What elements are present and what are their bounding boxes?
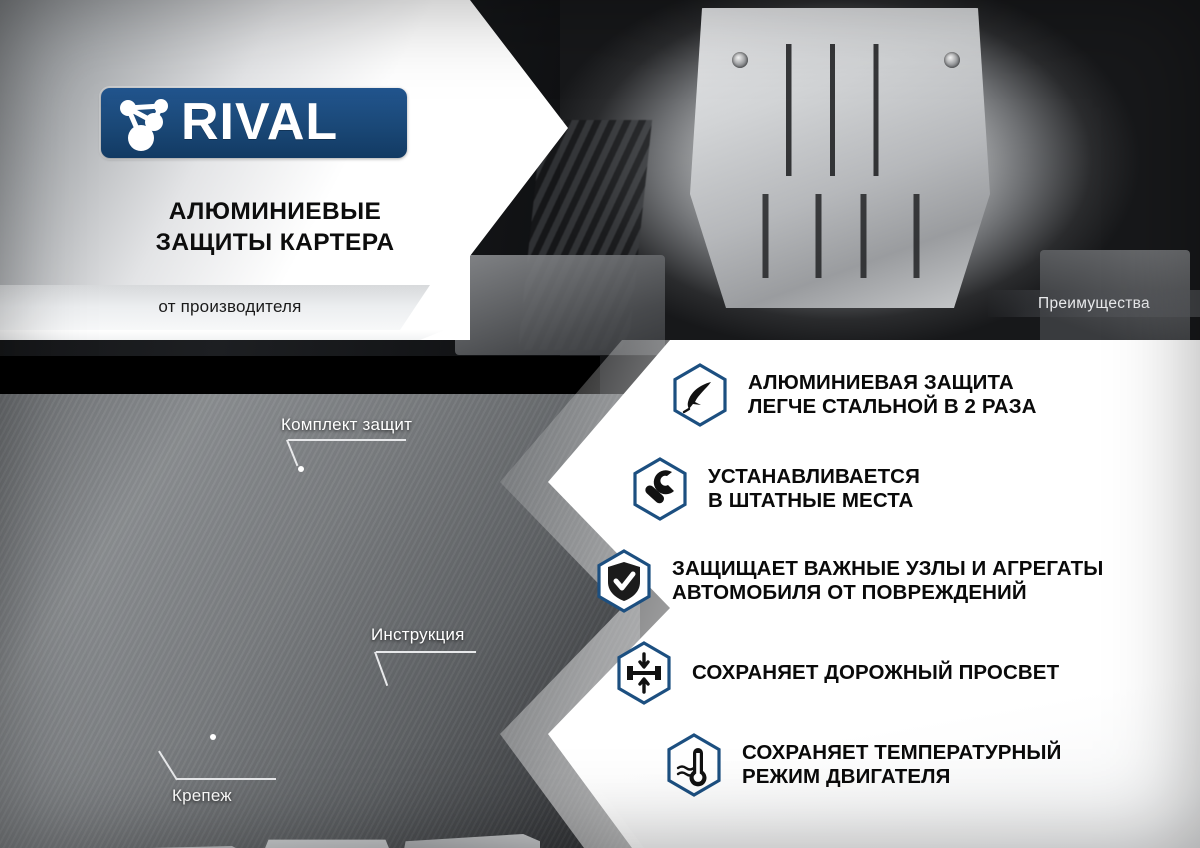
leader-line-fasteners-diag <box>158 751 177 781</box>
feature-item-protection: ЗАЩИЩАЕТ ВАЖНЫЕ УЗЛЫ И АГРЕГАТЫ АВТОМОБИ… <box>594 548 1182 614</box>
feather-icon <box>670 362 730 428</box>
leader-line-instruction <box>376 651 476 653</box>
rival-product-banner: Преимущества RIVAL АЛЮМИНИЕВЫЕ ЗАЩИТЫ КА… <box>0 0 1200 848</box>
ground-clearance-icon <box>614 640 674 706</box>
molecule-icon <box>113 93 179 153</box>
feature-text-temperature: СОХРАНЯЕТ ТЕМПЕРАТУРНЫЙ РЕЖИМ ДВИГАТЕЛЯ <box>742 741 1061 789</box>
page-title-line2: ЗАЩИТЫ КАРТЕРА <box>60 227 490 258</box>
feature-text-fitment: УСТАНАВЛИВАЕТСЯ В ШТАТНЫЕ МЕСТА <box>708 465 920 513</box>
feature-text-lightweight: АЛЮМИНИЕВАЯ ЗАЩИТА ЛЕГЧЕ СТАЛЬНОЙ В 2 РА… <box>748 371 1037 419</box>
leader-line-instruction-diag <box>374 652 388 686</box>
black-divider-band <box>0 356 600 398</box>
leader-dot-fasteners <box>210 734 216 740</box>
label-instruction: Инструкция <box>371 625 465 645</box>
leader-line-kit <box>288 439 406 441</box>
page-title-line1: АЛЮМИНИЕВЫЕ <box>60 196 490 227</box>
feature-item-temperature: СОХРАНЯЕТ ТЕМПЕРАТУРНЫЙ РЕЖИМ ДВИГАТЕЛЯ <box>664 732 1182 798</box>
shield-check-icon <box>594 548 654 614</box>
label-kit: Комплект защит <box>281 415 412 435</box>
leader-line-kit-diag <box>286 440 298 467</box>
header-strip-edge <box>0 330 445 340</box>
feature-item-clearance: СОХРАНЯЕТ ДОРОЖНЫЙ ПРОСВЕТ <box>614 640 1182 706</box>
feature-text-clearance: СОХРАНЯЕТ ДОРОЖНЫЙ ПРОСВЕТ <box>692 661 1059 685</box>
leader-line-fasteners <box>176 778 276 780</box>
advantages-tab[interactable]: Преимущества <box>988 290 1200 317</box>
feature-line1: СОХРАНЯЕТ ТЕМПЕРАТУРНЫЙ <box>742 741 1061 764</box>
feature-line1: УСТАНАВЛИВАЕТСЯ <box>708 465 920 488</box>
feature-line2: ЛЕГЧЕ СТАЛЬНОЙ В 2 РАЗА <box>748 395 1037 418</box>
plate-bolt-icon <box>732 52 748 68</box>
feature-item-fitment: УСТАНАВЛИВАЕТСЯ В ШТАТНЫЕ МЕСТА <box>630 456 1182 522</box>
thermometer-icon <box>664 732 724 798</box>
feature-line2: В ШТАТНЫЕ МЕСТА <box>708 489 913 512</box>
rival-logo[interactable]: RIVAL <box>101 88 407 158</box>
feature-text-protection: ЗАЩИЩАЕТ ВАЖНЫЕ УЗЛЫ И АГРЕГАТЫ АВТОМОБИ… <box>672 557 1103 605</box>
feature-line2: РЕЖИМ ДВИГАТЕЛЯ <box>742 765 950 788</box>
feature-item-lightweight: АЛЮМИНИЕВАЯ ЗАЩИТА ЛЕГЧЕ СТАЛЬНОЙ В 2 РА… <box>670 362 1182 428</box>
advantages-tab-label: Преимущества <box>1038 295 1150 313</box>
page-title: АЛЮМИНИЕВЫЕ ЗАЩИТЫ КАРТЕРА <box>60 196 490 259</box>
feature-line1: АЛЮМИНИЕВАЯ ЗАЩИТА <box>748 371 1014 394</box>
wrench-icon <box>630 456 690 522</box>
leader-dot-kit <box>298 466 304 472</box>
feature-line1: ЗАЩИЩАЕТ ВАЖНЫЕ УЗЛЫ И АГРЕГАТЫ <box>672 557 1103 580</box>
feature-line2: АВТОМОБИЛЯ ОТ ПОВРЕЖДЕНИЙ <box>672 581 1027 604</box>
logo-wordmark: RIVAL <box>181 96 338 148</box>
label-fasteners: Крепеж <box>172 786 232 806</box>
features-list: АЛЮМИНИЕВАЯ ЗАЩИТА ЛЕГЧЕ СТАЛЬНОЙ В 2 РА… <box>622 362 1182 820</box>
plate-bolt-icon <box>944 52 960 68</box>
skid-plate-2 <box>262 836 392 848</box>
skid-plate-3 <box>400 834 540 848</box>
page-subtitle: от производителя <box>40 297 420 317</box>
feature-line1: СОХРАНЯЕТ ДОРОЖНЫЙ ПРОСВЕТ <box>692 661 1059 684</box>
